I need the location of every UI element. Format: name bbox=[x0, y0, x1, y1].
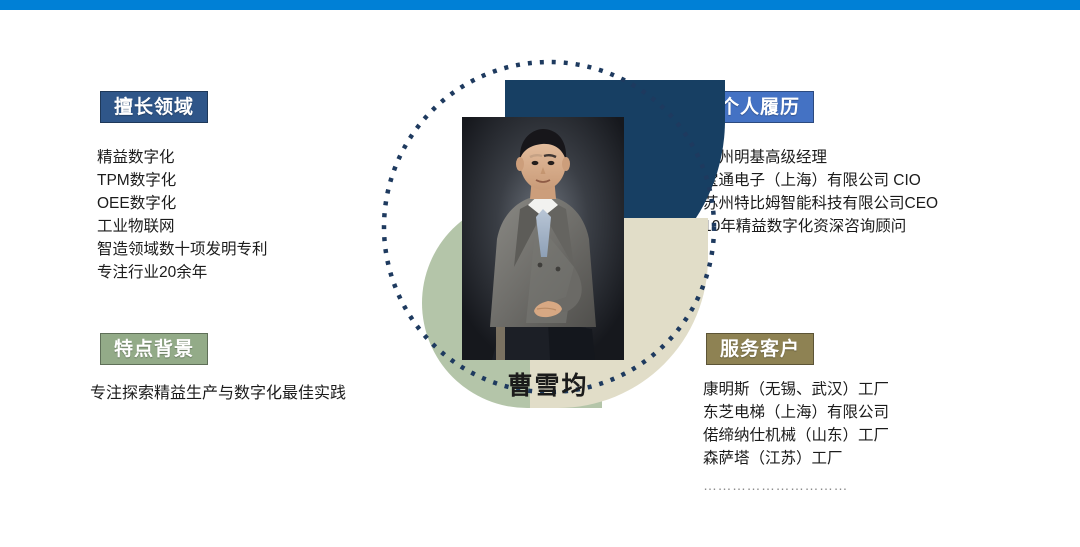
list-item: 专注探索精益生产与数字化最佳实践 bbox=[90, 382, 346, 405]
list-item: TPM数字化 bbox=[97, 169, 268, 192]
portrait-illustration bbox=[462, 117, 624, 360]
section-badge-clients: 服务客户 bbox=[706, 333, 814, 365]
list-item: 东芝电梯（上海）有限公司 bbox=[703, 401, 889, 424]
list-item: 苏州明基高级经理 bbox=[703, 146, 938, 169]
list-item: 专注行业20余年 bbox=[97, 261, 268, 284]
resume-list: 苏州明基高级经理 宝通电子（上海）有限公司 CIO 苏州特比姆智能科技有限公司C… bbox=[703, 146, 938, 238]
list-item: 10年精益数字化资深咨询顾问 bbox=[703, 215, 938, 238]
list-item: 苏州特比姆智能科技有限公司CEO bbox=[703, 192, 938, 215]
slide-root: 擅长领域 精益数字化 TPM数字化 OEE数字化 工业物联网 智造领域数十项发明… bbox=[0, 0, 1080, 547]
list-item: 森萨塔（江苏）工厂 bbox=[703, 447, 889, 470]
list-item: 宝通电子（上海）有限公司 CIO bbox=[703, 169, 938, 192]
list-item: 智造领域数十项发明专利 bbox=[97, 238, 268, 261]
portrait-composition: 曹雪均 bbox=[400, 58, 696, 408]
clients-list: 康明斯（无锡、武汉）工厂 东芝电梯（上海）有限公司 偌缔纳仕机械（山东）工厂 森… bbox=[703, 378, 889, 497]
features-list: 专注探索精益生产与数字化最佳实践 bbox=[90, 382, 346, 405]
list-item: 精益数字化 bbox=[97, 146, 268, 169]
skills-list: 精益数字化 TPM数字化 OEE数字化 工业物联网 智造领域数十项发明专利 专注… bbox=[97, 146, 268, 284]
top-accent-bar bbox=[0, 0, 1080, 10]
list-ellipsis: ………………………… bbox=[703, 470, 889, 497]
section-badge-features: 特点背景 bbox=[100, 333, 208, 365]
section-badge-skills: 擅长领域 bbox=[100, 91, 208, 123]
portrait-photo bbox=[462, 117, 624, 360]
person-name: 曹雪均 bbox=[400, 366, 696, 402]
list-item: OEE数字化 bbox=[97, 192, 268, 215]
list-item: 工业物联网 bbox=[97, 215, 268, 238]
list-item: 偌缔纳仕机械（山东）工厂 bbox=[703, 424, 889, 447]
list-item: 康明斯（无锡、武汉）工厂 bbox=[703, 378, 889, 401]
